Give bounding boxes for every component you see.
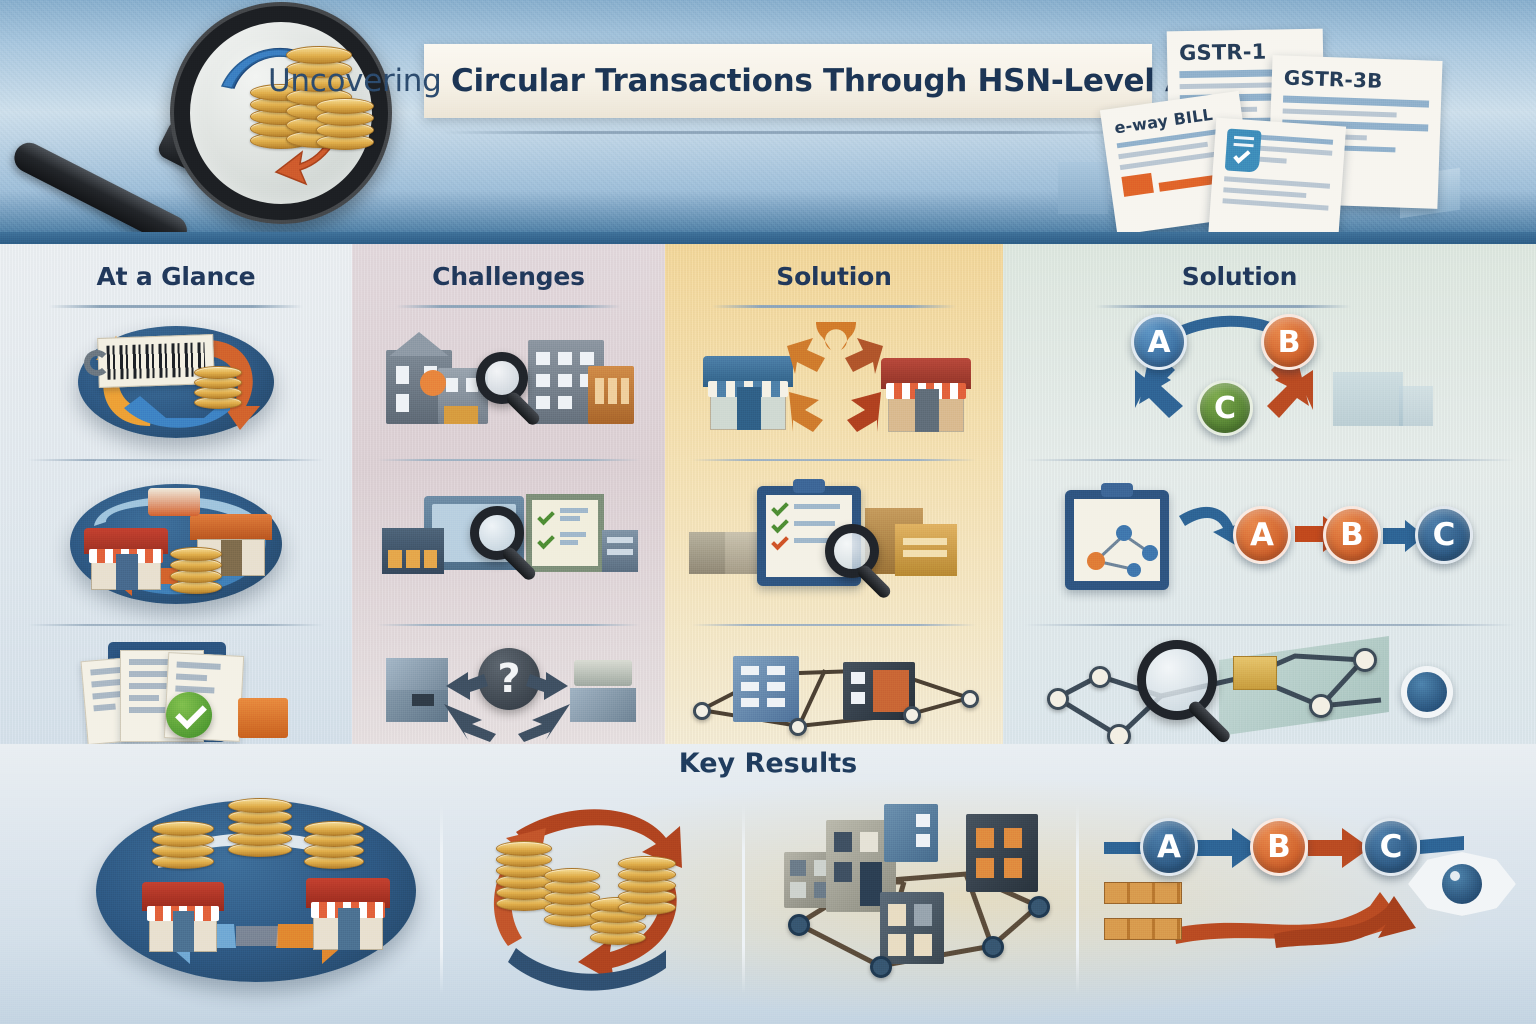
- crates-left: [689, 532, 765, 574]
- tag-hole-icon: [84, 350, 110, 376]
- poster-header: Uncovering Circular Transactions Through…: [0, 0, 1536, 244]
- node-label: A: [1147, 325, 1170, 360]
- magnifier-icon: [825, 524, 879, 578]
- shop-icon-left: [84, 528, 168, 590]
- graph-node: [1309, 694, 1333, 718]
- graph-node: [1028, 896, 1050, 918]
- graph-node: [1353, 648, 1377, 672]
- decorative-box-left: [1058, 162, 1108, 214]
- boxes-question-mark-arrows-icon: ?: [372, 642, 646, 742]
- node-label: C: [1214, 391, 1236, 426]
- entity-node-c: C: [1197, 380, 1253, 436]
- row-divider: [1024, 624, 1514, 626]
- key-result-circular-money-flow: [86, 796, 426, 996]
- warehouse-icon: [148, 488, 200, 516]
- graph-node: [789, 718, 807, 736]
- key-result-entity-network: [770, 796, 1060, 996]
- highlight-dot: [420, 370, 446, 396]
- panel-divider: [1076, 804, 1079, 994]
- clipboard-clip: [793, 479, 825, 493]
- graph-node: [1089, 666, 1111, 688]
- entity-node-a: A: [1131, 314, 1187, 370]
- title-underline: [440, 131, 1136, 134]
- building-icon: [884, 804, 938, 862]
- column-title-at-a-glance: At a Glance: [0, 262, 352, 291]
- infographic-poster: Uncovering Circular Transactions Through…: [0, 0, 1536, 1024]
- entity-node-b: B: [1261, 314, 1317, 370]
- entity-node-a: A: [1233, 506, 1291, 564]
- key-results-title: Key Results: [0, 748, 1536, 779]
- entity-node-c: C: [1415, 506, 1473, 564]
- graph-node: [693, 702, 711, 720]
- background-building: [1333, 372, 1403, 426]
- coin-stack-right: [316, 96, 374, 150]
- document-card-certificate[interactable]: [1208, 118, 1346, 244]
- server-icon: [602, 530, 638, 572]
- crate-icon: [238, 698, 288, 738]
- warehouse-icon: [382, 528, 444, 574]
- building-icon: [588, 366, 634, 424]
- column-rule: [49, 305, 302, 308]
- graph-node: [788, 914, 810, 936]
- buildings-magnifier-icon: [376, 324, 642, 440]
- building-icon: [966, 814, 1038, 892]
- graph-node: [982, 936, 1004, 958]
- node-label: B: [1267, 829, 1291, 865]
- graph-node: [1047, 688, 1069, 710]
- abc-triangle-cycle-icon: A B C: [1103, 314, 1433, 440]
- coin-stack: [304, 822, 364, 868]
- panel-divider: [742, 804, 745, 994]
- checklist-icon: [526, 494, 604, 572]
- certificate-badge-icon: [1225, 128, 1262, 172]
- coin-stack: [170, 548, 222, 592]
- column-rule: [396, 305, 621, 308]
- graph-node: [903, 706, 921, 724]
- row-divider: [377, 624, 640, 626]
- doc-line: [1180, 82, 1283, 89]
- branching-arrows-icon: [372, 642, 646, 742]
- package-icon: [1233, 656, 1277, 690]
- building-icon: [733, 656, 799, 722]
- column-challenges: Challenges: [352, 244, 665, 744]
- doc-line: [1222, 198, 1328, 210]
- coin-stack: [228, 802, 292, 858]
- row-divider: [28, 459, 324, 461]
- page-title-lead: Uncovering: [268, 63, 451, 99]
- doc-line: [1283, 95, 1429, 107]
- magnifier-icon: [476, 352, 528, 404]
- column-rule: [1095, 305, 1351, 308]
- doc-line: [1224, 176, 1330, 188]
- key-result-coin-cycle: [460, 796, 722, 996]
- green-check-icon: [166, 692, 212, 738]
- column-rule: [712, 305, 955, 308]
- entity-node-b: B: [1323, 506, 1381, 564]
- brick-block-icon: [1104, 918, 1182, 940]
- shop-icon-right: [306, 878, 390, 950]
- clipboard-abc-chain-icon: A B C: [1065, 482, 1485, 604]
- key-result-abc-traced-chain: A B C: [1104, 796, 1524, 996]
- node-label: B: [1278, 325, 1301, 360]
- entity-node-c: C: [1362, 818, 1420, 876]
- magnifier-icon: [1137, 640, 1217, 720]
- buildings-network-graph-icon: [679, 640, 989, 746]
- shops-circular-flow-coins-icon: [46, 482, 308, 608]
- title-plaque: Uncovering Circular Transactions Through…: [424, 44, 1152, 118]
- panel-divider: [440, 804, 443, 994]
- source-documents-group: GSTR-1 GSTR-3B e-way BILL: [1108, 22, 1528, 242]
- column-title-challenges: Challenges: [352, 262, 665, 291]
- coin-stack: [194, 366, 242, 408]
- coin-stack: [618, 846, 676, 916]
- node-label: A: [1250, 517, 1274, 553]
- column-solution-1: Solution: [665, 244, 1003, 744]
- entity-node-b: B: [1250, 818, 1308, 876]
- building-icon: [880, 892, 944, 964]
- network-edges: [679, 640, 989, 746]
- row-divider: [1024, 459, 1514, 461]
- crate-icon: [895, 524, 957, 576]
- columns-section: At a Glance: [0, 244, 1536, 744]
- row-divider: [692, 624, 976, 626]
- screen-checklist-magnifier-icon: [374, 484, 644, 596]
- shop-icon-left: [142, 882, 224, 952]
- column-at-a-glance: At a Glance: [0, 244, 352, 744]
- row-divider: [377, 459, 640, 461]
- key-results-section: Key Results: [0, 744, 1536, 1024]
- coin-stack: [152, 820, 214, 868]
- magnifier-coins-icon: [12, 0, 432, 244]
- column-solution-2: Solution A B C: [1003, 244, 1536, 744]
- barcode-tag-coins-cycle-icon: [54, 322, 304, 442]
- documents-green-check-icon: [62, 640, 292, 744]
- header-bottom-band: [0, 232, 1536, 244]
- doc-line: [1223, 187, 1306, 198]
- node-label: C: [1380, 829, 1403, 865]
- column-title-solution-2: Solution: [943, 262, 1536, 291]
- document-label-gstr3b: GSTR-3B: [1283, 65, 1430, 94]
- node-label: B: [1340, 517, 1364, 553]
- brick-block-icon: [1104, 882, 1182, 904]
- node-label: A: [1157, 829, 1181, 865]
- row-divider: [28, 624, 324, 626]
- graph-node: [870, 956, 892, 978]
- graph-node: [961, 690, 979, 708]
- two-shops-circular-arrows-icon: [691, 322, 981, 444]
- entity-node-a: A: [1140, 818, 1198, 876]
- magnifier-lens: [170, 2, 392, 224]
- clipboard-checklist-magnifier-crates-icon: [679, 480, 989, 604]
- target-node-icon: [1401, 666, 1453, 718]
- row-divider: [692, 459, 976, 461]
- doc-line: [1283, 108, 1397, 117]
- node-label: C: [1433, 517, 1456, 553]
- network-graph-magnifier-target-icon: [1033, 632, 1483, 750]
- background-building: [1399, 386, 1433, 426]
- circular-arrows-icon: [691, 322, 981, 444]
- magnifier-icon: [470, 506, 524, 560]
